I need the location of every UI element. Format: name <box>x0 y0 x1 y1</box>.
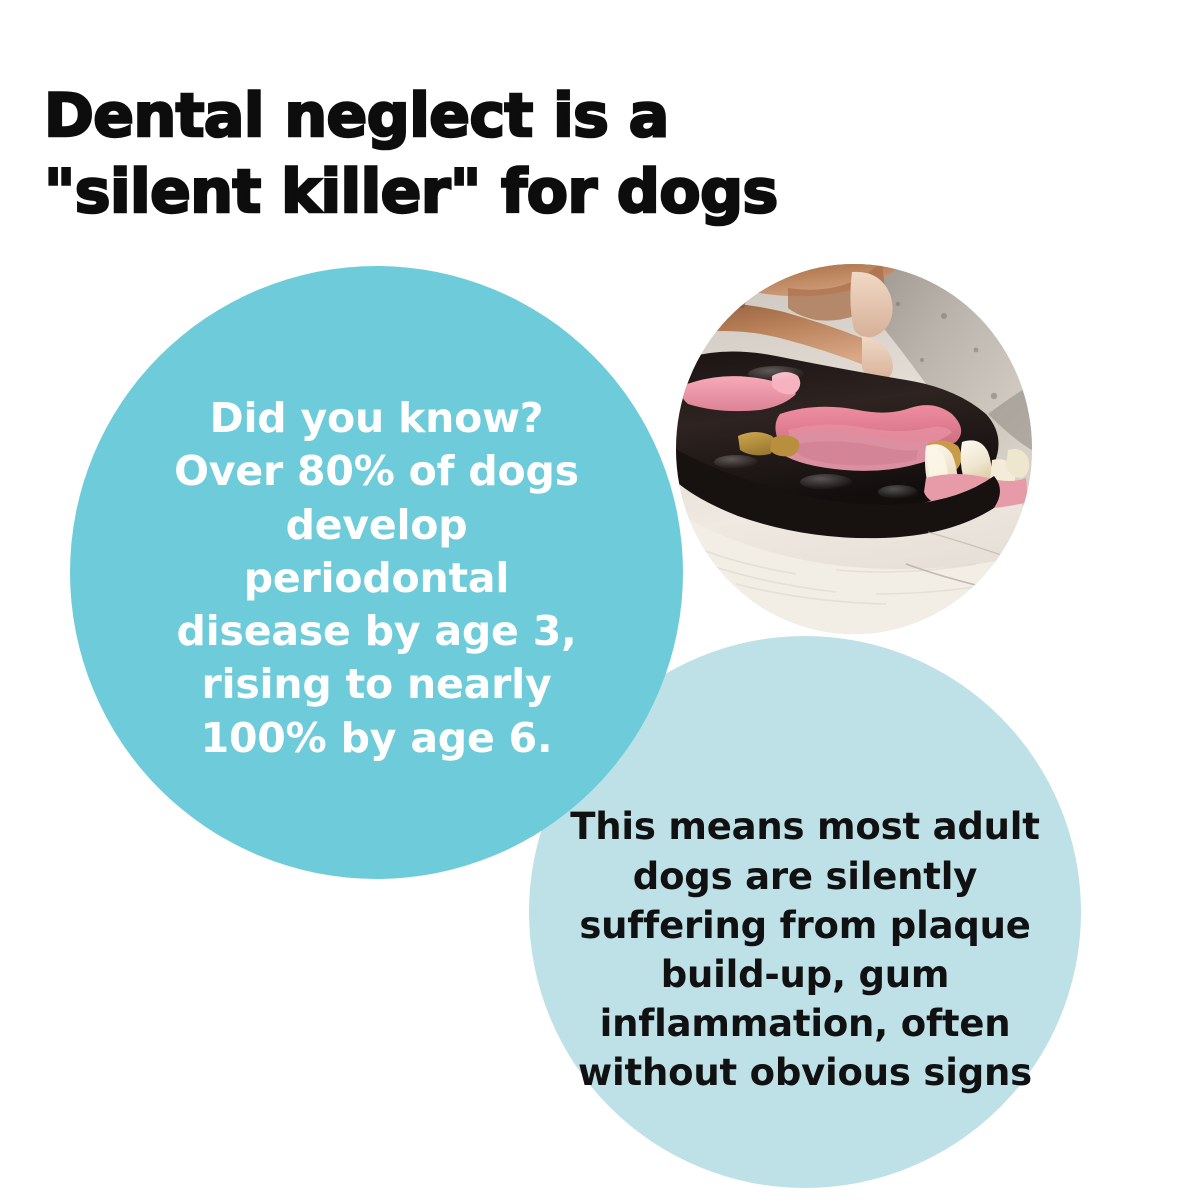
fact-bubble: Did you know? Over 80% of dogs develop p… <box>70 266 683 879</box>
implication-bubble-text: This means most adult dogs are silently … <box>570 802 1040 1097</box>
dog-mouth-photo <box>676 264 1032 634</box>
page-title: Dental neglect is a "silent killer" for … <box>44 78 944 230</box>
dog-mouth-illustration <box>676 264 1032 634</box>
infographic-canvas: Dental neglect is a "silent killer" for … <box>0 0 1200 1200</box>
fact-bubble-text: Did you know? Over 80% of dogs develop p… <box>142 392 612 765</box>
